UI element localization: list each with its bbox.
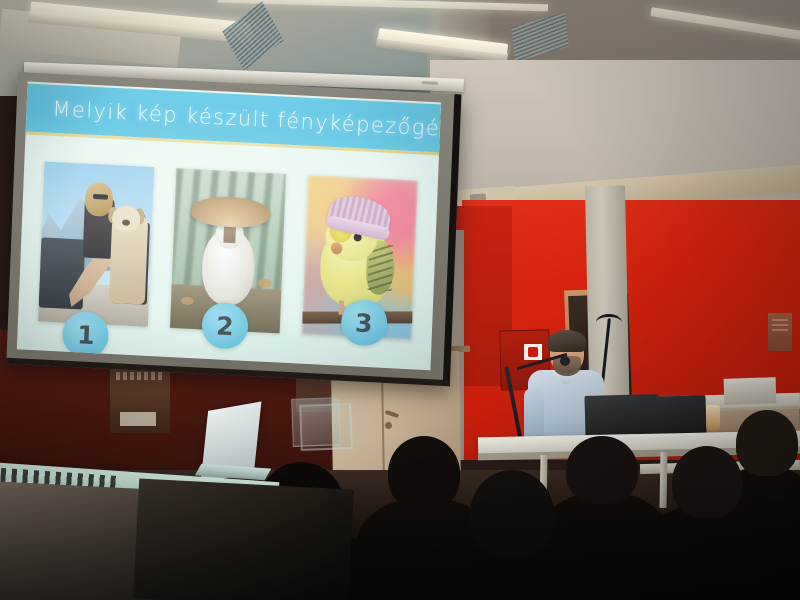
drinking-glass — [706, 405, 720, 431]
slide: Melyik kép készült fényképezőgéppel? — [17, 81, 441, 370]
audience-head — [736, 410, 798, 476]
lecture-hall-scene: Melyik kép készült fényképezőgéppel? — [0, 0, 800, 600]
photo-woman-and-dog — [38, 161, 154, 326]
microphone-head — [560, 356, 570, 366]
photo1-dog-head — [112, 205, 141, 232]
laptop-right[interactable] — [647, 395, 706, 437]
projection-screen-surface: Melyik kép készült fényképezőgéppel? — [17, 81, 441, 370]
wall-poster-card — [120, 412, 156, 426]
slide-option-row: 1 — [18, 160, 438, 341]
audience-head — [470, 470, 554, 558]
glass-rail — [299, 403, 353, 451]
fire-sign-icon — [524, 344, 542, 360]
audience-head — [672, 446, 742, 518]
audience-head — [388, 436, 460, 510]
wall-sign — [768, 313, 792, 351]
lectern-body-right — [133, 478, 354, 600]
door-lock-icon[interactable] — [385, 422, 392, 429]
slide-option-3[interactable]: 3 — [302, 175, 418, 340]
projection-screen: Melyik kép készült fényképezőgéppel? — [6, 72, 461, 386]
back-monitor — [724, 377, 777, 405]
slide-option-2[interactable]: 2 — [170, 168, 286, 333]
wall-poster-text — [116, 372, 164, 380]
table-leg-right — [660, 452, 668, 508]
slide-option-1[interactable]: 1 — [38, 161, 154, 326]
photo1-sunglasses — [93, 194, 108, 200]
presenter-hair — [548, 330, 586, 352]
audience-head — [566, 436, 638, 504]
photo2-leaf-2 — [181, 297, 194, 306]
slide-body: 1 — [17, 134, 439, 370]
